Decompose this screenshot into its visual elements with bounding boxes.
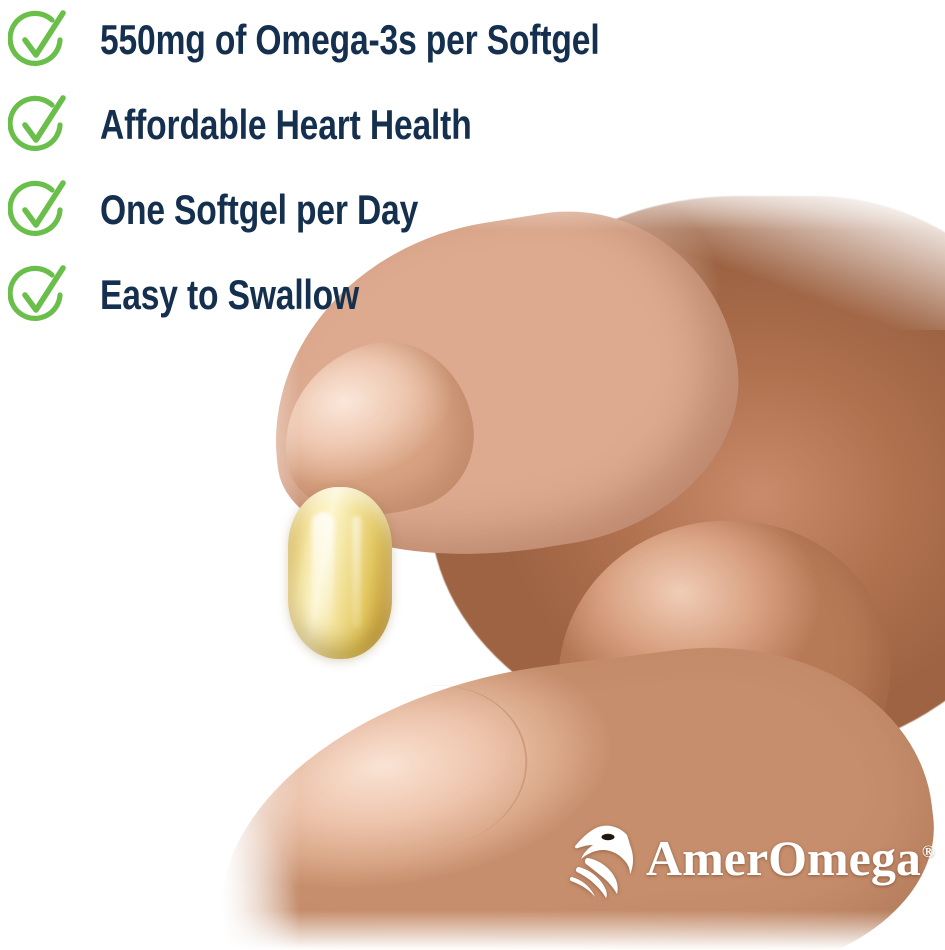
feature-bullet-label: Affordable Heart Health xyxy=(100,104,472,146)
registered-trademark-icon: ® xyxy=(922,842,935,861)
green-check-circle-icon xyxy=(8,10,68,70)
brand-logo: AmerOmega® xyxy=(566,815,935,901)
green-check-circle-icon xyxy=(8,180,68,240)
eagle-head-icon xyxy=(566,818,642,898)
capsule-seam-highlight xyxy=(352,516,361,628)
brand-name-text: AmerOmega xyxy=(646,830,921,886)
feature-bullet-label: 550mg of Omega-3s per Softgel xyxy=(100,19,600,61)
feature-bullet-item: Affordable Heart Health xyxy=(8,93,564,157)
photo-fade-bottom xyxy=(0,910,945,950)
feature-bullet-label: Easy to Swallow xyxy=(100,274,359,316)
feature-bullet-item: One Softgel per Day xyxy=(8,178,498,242)
softgel-capsule xyxy=(288,487,392,659)
feature-bullet-label: One Softgel per Day xyxy=(100,189,418,231)
brand-name: AmerOmega® xyxy=(646,833,935,883)
feature-bullet-item: 550mg of Omega-3s per Softgel xyxy=(8,8,724,72)
feature-bullet-item: Easy to Swallow xyxy=(8,263,424,327)
green-check-circle-icon xyxy=(8,265,68,325)
capsule-highlight xyxy=(312,512,334,630)
green-check-circle-icon xyxy=(8,95,68,155)
product-marketing-image: 550mg of Omega-3s per Softgel Affordable… xyxy=(0,0,945,950)
